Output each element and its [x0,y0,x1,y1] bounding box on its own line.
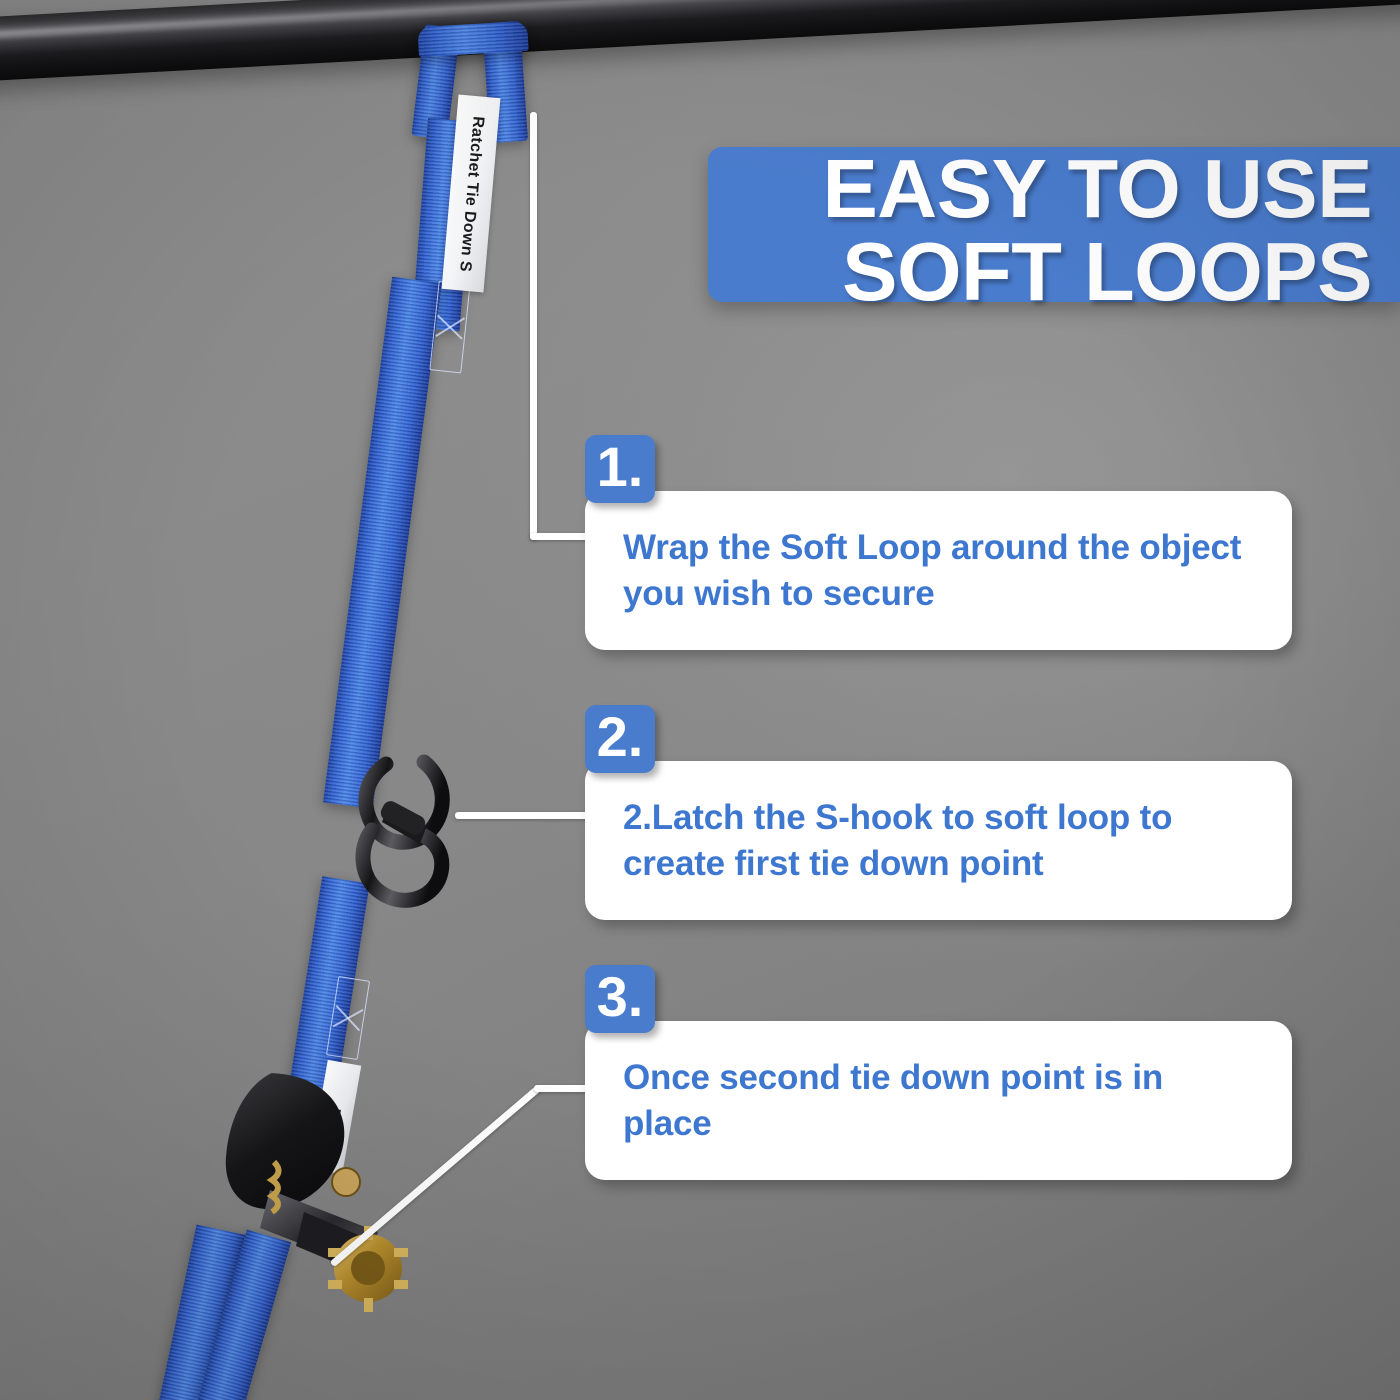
step-number-badge-3: 3. [585,965,655,1033]
leader-line-step-1-vertical [530,112,537,540]
step-text-card-1: Wrap the Soft Loop around the object you… [585,491,1292,650]
step-number-badge-2: 2. [585,705,655,773]
black-bar [0,0,1400,82]
page-title-line-2: SOFT LOOPS [708,233,1372,312]
step-text-3: Once second tie down point is in place [623,1055,1258,1146]
s-hook-icon [352,752,482,952]
step-text-2: 2.Latch the S-hook to soft loop to creat… [623,795,1258,886]
leader-line-step-1-horizontal [530,533,592,540]
strap-label-text: Ratchet Tie Down S [455,115,487,272]
soft-loop-crown [417,21,529,57]
page-title: EASY TO USE SOFT LOOPS [708,150,1400,312]
step-text-card-3: Once second tie down point is in place [585,1021,1292,1180]
leader-line-step-2 [455,812,603,819]
step-number-badge-1: 1. [585,435,655,503]
step-text-1: Wrap the Soft Loop around the object you… [623,525,1258,616]
page-title-line-1: EASY TO USE [708,150,1372,229]
product-infographic: Ratchet Tie Down S Ra [0,0,1400,1400]
ratchet-buckle-icon [218,1062,488,1332]
bar-highlight [0,0,1400,40]
step-text-card-2: 2.Latch the S-hook to soft loop to creat… [585,761,1292,920]
strap-main-run [323,277,442,809]
